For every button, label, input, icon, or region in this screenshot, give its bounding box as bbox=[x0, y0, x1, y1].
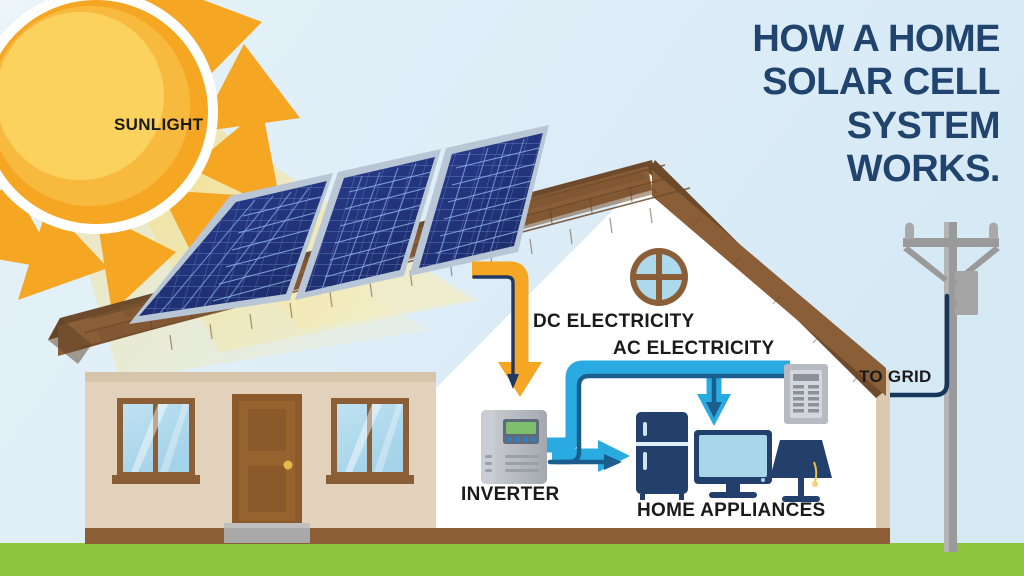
label-inverter: INVERTER bbox=[461, 484, 559, 506]
grass-ground bbox=[0, 543, 1024, 576]
inverter-box[interactable] bbox=[481, 410, 547, 484]
breaker-panel[interactable] bbox=[784, 364, 828, 424]
page-title: HOW A HOME SOLAR CELL SYSTEM WORKS. bbox=[610, 18, 1000, 191]
title-line-3: WORKS. bbox=[610, 148, 1000, 191]
label-home-appliances: HOME APPLIANCES bbox=[637, 500, 826, 522]
label-ac-electricity: AC ELECTRICITY bbox=[613, 338, 774, 360]
front-door[interactable] bbox=[224, 394, 310, 543]
house-window bbox=[112, 398, 200, 484]
label-to-grid: TO GRID bbox=[859, 367, 932, 387]
label-sunlight: SUNLIGHT bbox=[114, 115, 203, 135]
label-dc-electricity: DC ELECTRICITY bbox=[533, 311, 694, 333]
title-line-1: HOW A HOME bbox=[610, 18, 1000, 61]
title-line-2: SOLAR CELL SYSTEM bbox=[610, 61, 1000, 148]
refrigerator[interactable] bbox=[636, 412, 688, 500]
round-attic-window bbox=[630, 248, 688, 306]
house-window bbox=[326, 398, 414, 484]
